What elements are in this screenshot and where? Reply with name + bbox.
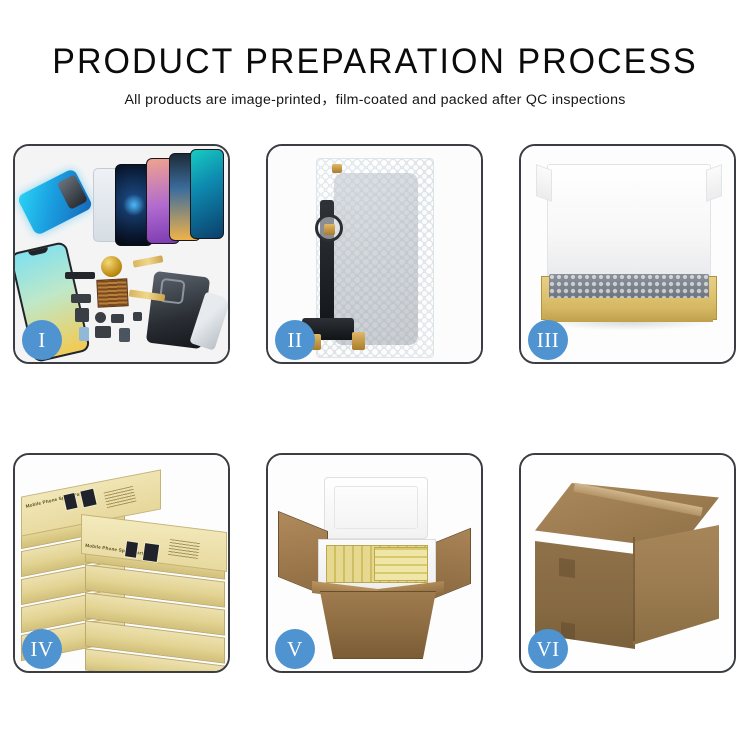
- flex-cable-1: [133, 255, 164, 268]
- step-panel-5: V: [266, 453, 483, 673]
- step-badge-4: IV: [22, 629, 62, 669]
- blue-screen-part: [17, 168, 94, 236]
- packed-boxes-row-2: [374, 547, 428, 581]
- small-part-3: [95, 312, 106, 323]
- bubble-wrap-fill: [549, 274, 709, 298]
- foam-box-lid: [324, 477, 428, 539]
- step-panel-4: Mobile Phone Spare Parts Mobile Phone Sp…: [13, 453, 230, 673]
- small-part-7: [119, 328, 130, 342]
- page-subtitle: All products are image-printed，film-coat…: [0, 93, 750, 107]
- product-preparation-infographic: PRODUCT PREPARATION PROCESS All products…: [0, 0, 750, 750]
- gold-contact-2: [324, 224, 335, 235]
- box-window-3: [124, 540, 139, 559]
- carton-tab-upper: [559, 558, 575, 578]
- small-part-1: [71, 294, 91, 303]
- gold-coil-part: [101, 256, 122, 277]
- step-badge-2: II: [275, 320, 315, 360]
- box-window-4: [142, 542, 160, 563]
- small-part-8: [133, 312, 142, 321]
- speaker-part: [65, 272, 95, 279]
- phone-teal: [190, 149, 224, 239]
- step-badge-6: VI: [528, 629, 568, 669]
- step-panel-1: I: [13, 144, 230, 364]
- box-shadow: [551, 322, 707, 330]
- chip-grid-part: [96, 278, 128, 308]
- step-panel-2: II: [266, 144, 483, 364]
- carton-corner-seam: [633, 537, 635, 641]
- kraft-box-front-panel: [545, 306, 713, 322]
- small-part-4: [111, 314, 124, 323]
- white-box-lid: [547, 164, 711, 280]
- small-part-5: [79, 327, 89, 341]
- process-steps-grid: I II: [13, 144, 737, 673]
- carton-body: [312, 591, 444, 659]
- step-badge-5: V: [275, 629, 315, 669]
- step-badge-3: III: [528, 320, 568, 360]
- page-title: PRODUCT PREPARATION PROCESS: [11, 44, 739, 79]
- step-panel-6: VI: [519, 453, 736, 673]
- step-panel-3: III: [519, 144, 736, 364]
- gold-contact-4: [352, 332, 365, 350]
- flex-cable-assembly: [320, 200, 334, 326]
- small-part-2: [75, 308, 89, 322]
- carton-right-face: [633, 525, 719, 645]
- step-badge-1: I: [22, 320, 62, 360]
- small-part-6: [95, 326, 111, 338]
- header: PRODUCT PREPARATION PROCESS All products…: [0, 0, 750, 107]
- gold-contact-1: [332, 164, 342, 173]
